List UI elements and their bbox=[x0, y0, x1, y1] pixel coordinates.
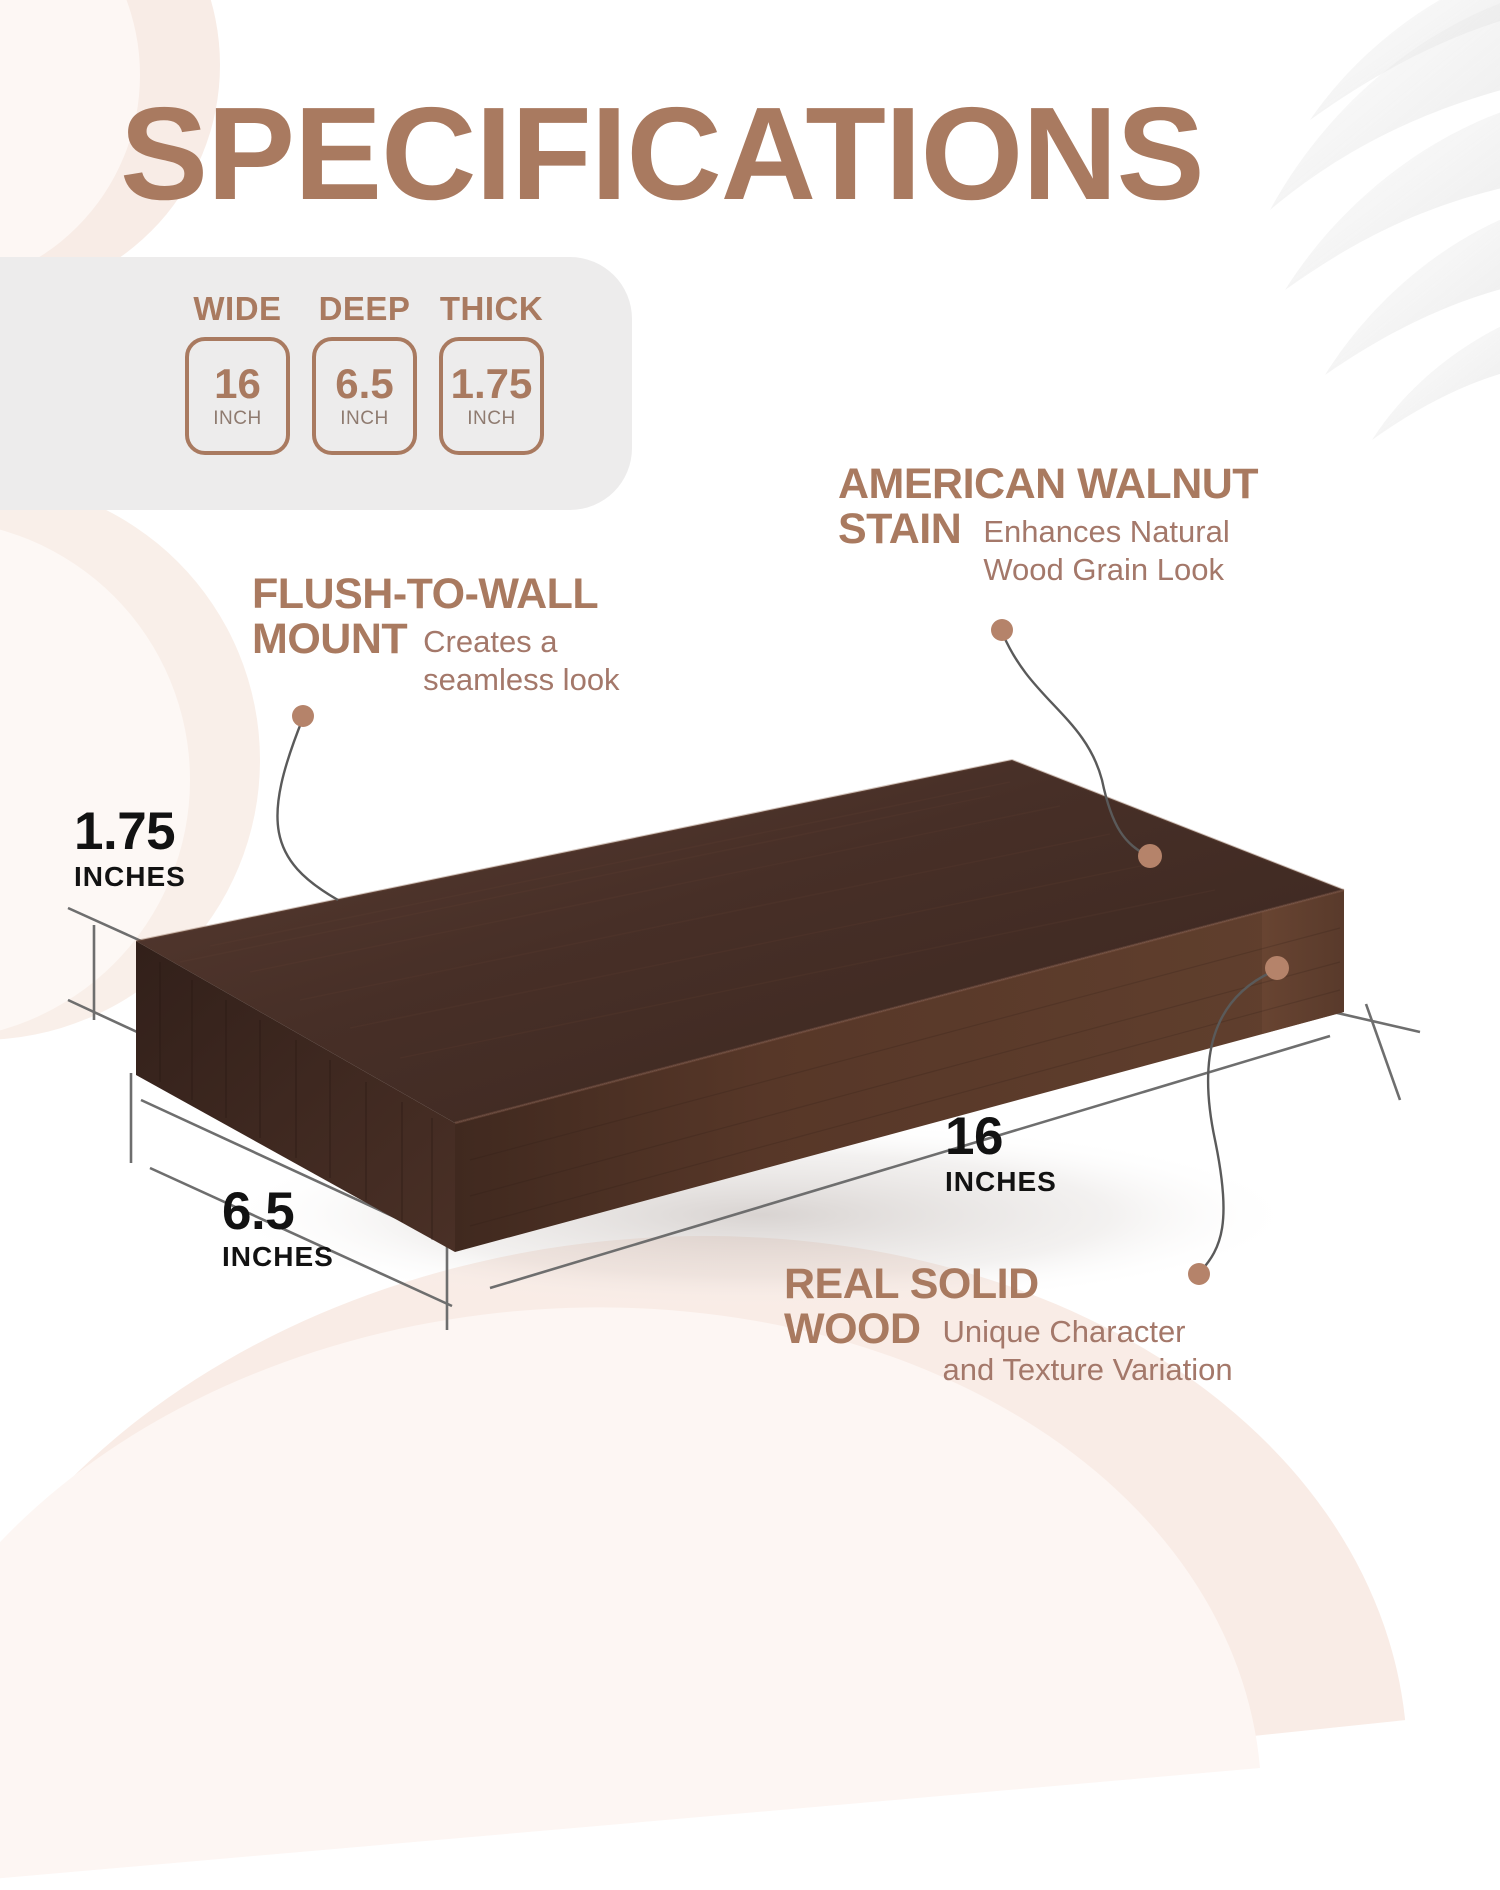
callout-dot-real-solid-wood-target bbox=[1265, 956, 1289, 980]
dimension-unit-depth: INCHES bbox=[222, 1241, 334, 1273]
dimension-unit-thickness: INCHES bbox=[74, 861, 186, 893]
dimension-label-thickness: 1.75 INCHES bbox=[74, 805, 186, 893]
callout-real-solid-wood: REAL SOLID WOOD Unique Character and Tex… bbox=[784, 1262, 1424, 1388]
dimension-value-thickness: 1.75 bbox=[74, 805, 186, 858]
dimension-label-depth: 6.5 INCHES bbox=[222, 1185, 334, 1273]
callout-american-walnut-stain: AMERICAN WALNUT STAIN Enhances Natural W… bbox=[838, 462, 1478, 588]
dimension-value-depth: 6.5 bbox=[222, 1185, 334, 1238]
dimension-value-width: 16 bbox=[945, 1110, 1057, 1163]
callout-flush-heading-line2: MOUNT bbox=[252, 617, 407, 662]
callout-flush-heading-line1: FLUSH-TO-WALL bbox=[252, 572, 812, 617]
callout-flush-sub-line2: seamless look bbox=[423, 661, 619, 699]
callout-stain-heading-line1: AMERICAN WALNUT bbox=[838, 462, 1478, 507]
callout-flush-to-wall-mount: FLUSH-TO-WALL MOUNT Creates a seamless l… bbox=[252, 572, 812, 698]
dimension-unit-width: INCHES bbox=[945, 1166, 1057, 1198]
callout-stain-sub-line2: Wood Grain Look bbox=[983, 551, 1229, 589]
dimension-label-width: 16 INCHES bbox=[945, 1110, 1057, 1198]
callout-wood-sub-line2: and Texture Variation bbox=[943, 1351, 1233, 1389]
callout-stain-heading-line2: STAIN bbox=[838, 507, 961, 552]
callout-flush-sub-line1: Creates a bbox=[423, 623, 619, 661]
leader-flush-to-wall bbox=[277, 718, 338, 900]
callout-stain-sub-line1: Enhances Natural bbox=[983, 513, 1229, 551]
callout-wood-heading-line2: WOOD bbox=[784, 1307, 921, 1352]
callout-dot-flush-to-wall bbox=[292, 705, 314, 727]
callout-dot-walnut-stain-label bbox=[991, 619, 1013, 641]
callout-dot-walnut-stain-target bbox=[1138, 844, 1162, 868]
callout-wood-heading-line1: REAL SOLID bbox=[784, 1262, 1424, 1307]
infographic-canvas: SPECIFICATIONS WIDE 16 INCH DEEP 6.5 INC… bbox=[0, 0, 1500, 1500]
callout-wood-sub-line1: Unique Character bbox=[943, 1313, 1233, 1351]
